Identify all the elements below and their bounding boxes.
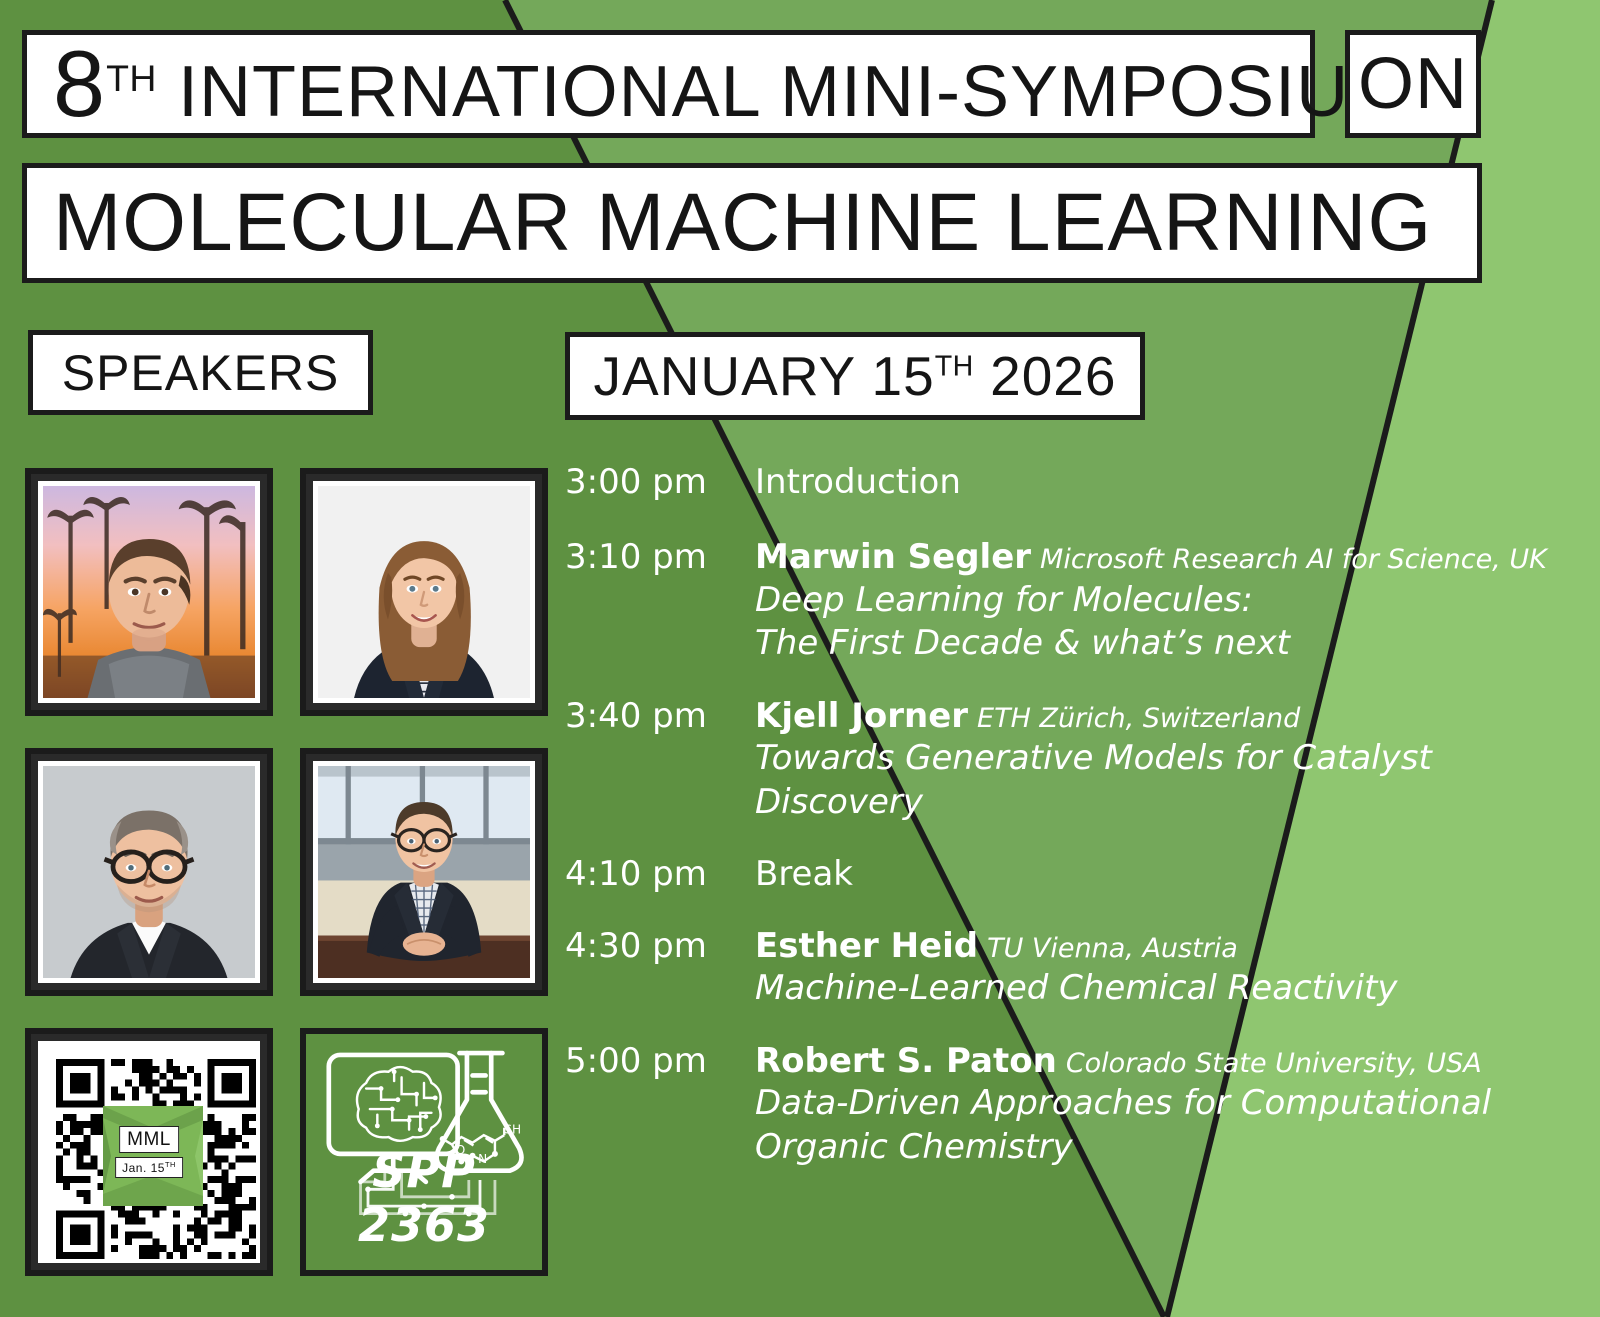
schedule-time: 3:00 pm bbox=[565, 462, 755, 503]
talk-title-line: Organic Chemistry bbox=[755, 1126, 1575, 1170]
talk-title-line: Data-Driven Approaches for Computational bbox=[755, 1082, 1575, 1126]
speaker-name-line: Marwin SeglerMicrosoft Research AI for S… bbox=[755, 537, 1575, 578]
speakers-label-text: Speakers bbox=[62, 348, 340, 398]
talk-title-line: Towards Generative Models for Catalyst bbox=[755, 737, 1575, 781]
speaker-name: Robert S. Paton bbox=[755, 1041, 1057, 1081]
schedule-time: 3:40 pm bbox=[565, 696, 755, 825]
svg-text:SH: SH bbox=[504, 1122, 521, 1136]
schedule-gap bbox=[565, 900, 1575, 926]
schedule-time: 4:10 pm bbox=[565, 854, 755, 895]
speaker-name: Kjell Jorner bbox=[755, 696, 968, 736]
portrait-image-4 bbox=[318, 766, 530, 978]
speaker-photo-3 bbox=[25, 748, 273, 996]
schedule-gap bbox=[565, 670, 1575, 696]
schedule-row: 4:30 pmEsther HeidTU Vienna, AustriaMach… bbox=[565, 926, 1575, 1011]
qr-center-logo: MML Jan. 15TH bbox=[103, 1106, 195, 1198]
talk-title-line: Machine-Learned Chemical Reactivity bbox=[755, 967, 1575, 1011]
title-line-2-text: Molecular Machine Learning bbox=[53, 182, 1432, 264]
schedule-row: 4:10 pmBreak bbox=[565, 854, 1575, 895]
speakers-label-box: Speakers bbox=[28, 330, 373, 415]
speaker-name-line: Kjell JornerETH Zürich, Switzerland bbox=[755, 696, 1575, 737]
schedule-entry: Kjell JornerETH Zürich, SwitzerlandTowar… bbox=[755, 696, 1575, 825]
schedule-row: 5:00 pmRobert S. PatonColorado State Uni… bbox=[565, 1041, 1575, 1170]
speaker-photo-4 bbox=[300, 748, 548, 996]
speaker-photo-1 bbox=[25, 468, 273, 716]
portrait-image-1 bbox=[43, 486, 255, 698]
title-on-box: on bbox=[1345, 30, 1481, 138]
speaker-affiliation: Colorado State University, USA bbox=[1057, 1048, 1482, 1079]
date-text: January 15TH 2026 bbox=[594, 349, 1117, 404]
qr-label-date: Jan. 15TH bbox=[115, 1157, 183, 1178]
schedule-row: 3:00 pmIntroduction bbox=[565, 462, 1575, 503]
portrait-image-2 bbox=[318, 486, 530, 698]
schedule-entry: Robert S. PatonColorado State University… bbox=[755, 1041, 1575, 1170]
circuit-brain-icon bbox=[357, 1067, 441, 1141]
schedule-entry-text: Break bbox=[755, 854, 1575, 895]
portrait-image-3 bbox=[43, 766, 255, 978]
talk-title-line: The First Decade & what’s next bbox=[755, 622, 1575, 666]
speaker-affiliation: TU Vienna, Austria bbox=[978, 933, 1238, 964]
schedule-time: 5:00 pm bbox=[565, 1041, 755, 1170]
schedule-entry: Introduction bbox=[755, 462, 1575, 503]
speaker-name: Esther Heid bbox=[755, 926, 978, 966]
spp-label: SPP 2363 bbox=[312, 1144, 536, 1252]
speaker-name: Marwin Segler bbox=[755, 537, 1031, 577]
poster-root: 8TH International Mini-Symposium on Mole… bbox=[0, 0, 1600, 1317]
schedule-entry: Marwin SeglerMicrosoft Research AI for S… bbox=[755, 537, 1575, 666]
schedule-entry: Break bbox=[755, 854, 1575, 895]
schedule-gap bbox=[565, 507, 1575, 537]
schedule-gap bbox=[565, 828, 1575, 854]
talk-title-line: Discovery bbox=[755, 781, 1575, 825]
title-on-text: on bbox=[1358, 48, 1468, 120]
speaker-name-line: Robert S. PatonColorado State University… bbox=[755, 1041, 1575, 1082]
schedule-time: 3:10 pm bbox=[565, 537, 755, 666]
title-line-1: 8TH International Mini-Symposium bbox=[22, 30, 1315, 138]
talk-title-line: Deep Learning for Molecules: bbox=[755, 579, 1575, 623]
schedule-row: 3:40 pmKjell JornerETH Zürich, Switzerla… bbox=[565, 696, 1575, 825]
schedule-gap bbox=[565, 1015, 1575, 1041]
title-line-2: Molecular Machine Learning bbox=[22, 163, 1482, 283]
schedule-entry: Esther HeidTU Vienna, AustriaMachine-Lea… bbox=[755, 926, 1575, 1011]
schedule-row: 3:10 pmMarwin SeglerMicrosoft Research A… bbox=[565, 537, 1575, 666]
title-line-1-text: 8TH International Mini-Symposium bbox=[53, 37, 1410, 131]
speaker-photo-2 bbox=[300, 468, 548, 716]
speaker-affiliation: Microsoft Research AI for Science, UK bbox=[1031, 544, 1547, 575]
schedule-time: 4:30 pm bbox=[565, 926, 755, 1011]
qr-label-mml: MML bbox=[119, 1126, 179, 1153]
speaker-affiliation: ETH Zürich, Switzerland bbox=[968, 703, 1300, 734]
schedule-entry-text: Introduction bbox=[755, 462, 1575, 503]
qr-code-block[interactable]: MML Jan. 15TH bbox=[25, 1028, 273, 1276]
schedule-list: 3:00 pmIntroduction3:10 pmMarwin SeglerM… bbox=[565, 462, 1575, 1173]
spp-logo-block: SH O N SPP 2363 bbox=[300, 1028, 548, 1276]
speaker-name-line: Esther HeidTU Vienna, Austria bbox=[755, 926, 1575, 967]
date-box: January 15TH 2026 bbox=[565, 332, 1145, 420]
